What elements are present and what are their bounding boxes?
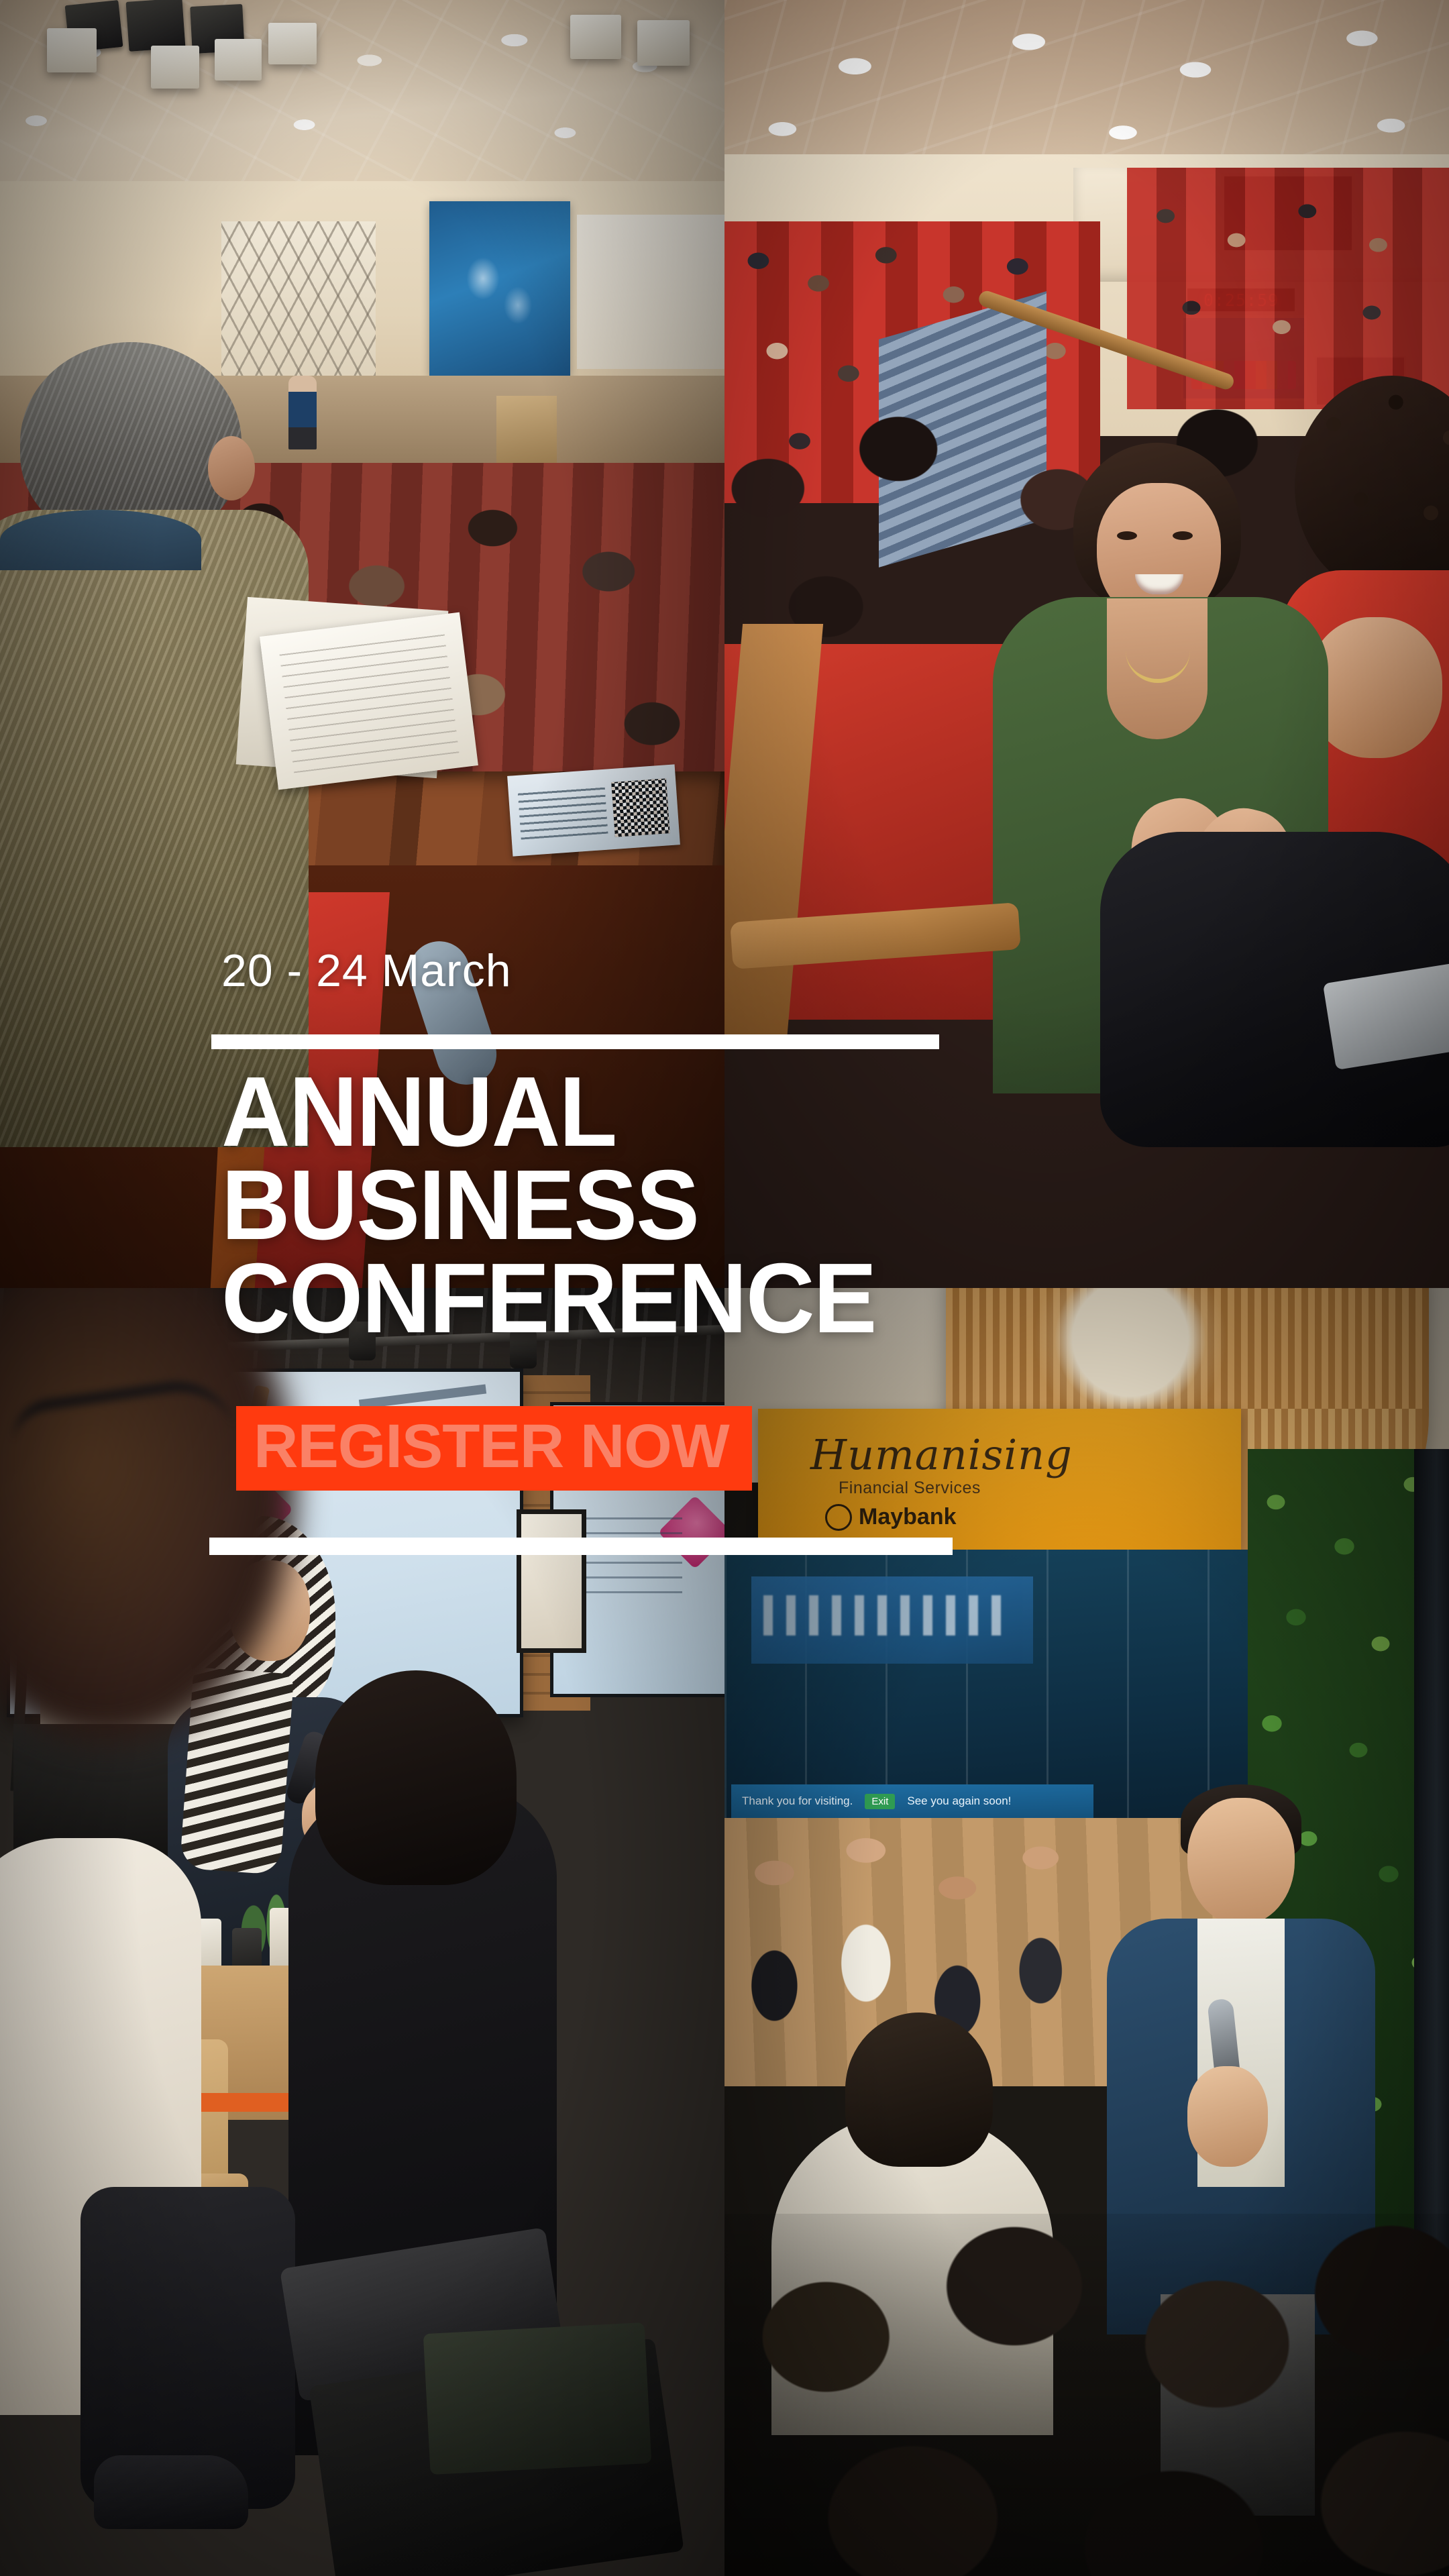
photo-top-left: [0, 0, 724, 1288]
photo-top-right: 0:25:59: [724, 0, 1449, 1288]
vignette: [0, 1288, 724, 2576]
vignette: [0, 0, 724, 1288]
vignette: [724, 1288, 1449, 2576]
vignette: [724, 0, 1449, 1288]
photo-bottom-left: [0, 1288, 724, 2576]
photo-collage-grid: 0:25:59: [0, 0, 1449, 2576]
photo-bottom-right: Humanising Financial Services Maybank Th…: [724, 1288, 1449, 2576]
conference-poster: 0:25:59: [0, 0, 1449, 2576]
